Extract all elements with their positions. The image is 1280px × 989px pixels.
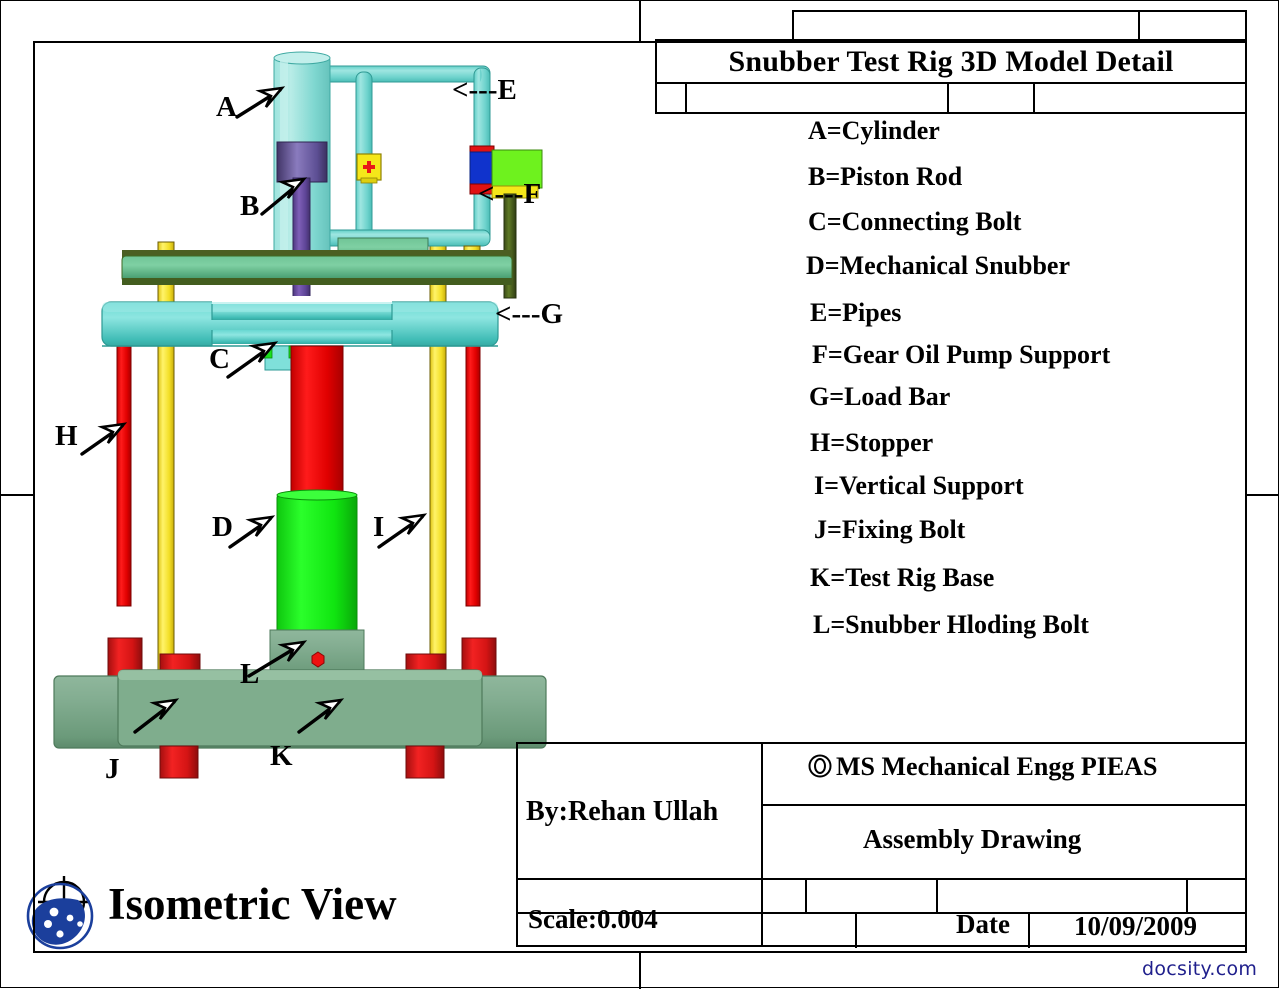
header-cell-5 <box>949 84 1035 112</box>
legend-equals: = <box>827 517 842 543</box>
legend-key: J <box>814 517 827 543</box>
frame-tick-left <box>0 494 33 496</box>
tb-divider-v5 <box>1186 878 1188 914</box>
legend-key: G <box>809 384 829 410</box>
header-cell-2 <box>1140 12 1245 39</box>
load-bar <box>102 296 498 354</box>
callout-k: K <box>270 742 293 771</box>
concentric-circle-icon <box>808 754 832 778</box>
drawing-sheet: A B C D H I J K L <---E <---F <---G Snub… <box>0 0 1280 989</box>
page-title: Snubber Test Rig 3D Model Detail <box>728 45 1173 79</box>
snubber-upper-rod <box>291 346 343 496</box>
header-cell-4 <box>687 84 949 112</box>
legend-value: Mechanical Snubber <box>840 253 1070 279</box>
callout-g: <---G <box>495 300 563 329</box>
tb-divider-h2 <box>518 878 1247 880</box>
piston-head <box>277 142 327 182</box>
title-header: Snubber Test Rig 3D Model Detail <box>655 10 1247 114</box>
organisation-label: MS Mechanical Engg PIEAS <box>808 752 1157 782</box>
mechanical-snubber <box>277 490 357 636</box>
header-cell-1 <box>794 12 1140 39</box>
legend-value: Pipes <box>842 300 901 326</box>
legend-key: I <box>814 473 824 499</box>
header-cell-3 <box>657 84 687 112</box>
legend-equals: = <box>827 118 842 144</box>
legend-key: F <box>812 342 828 368</box>
callout-b: B <box>240 192 259 221</box>
scale-label: Scale:0.004 <box>528 904 658 935</box>
snubber-holding-bolt <box>312 652 324 667</box>
legend-equals: = <box>827 300 842 326</box>
docsity-watermark-logo <box>18 872 110 954</box>
callout-a: A <box>216 93 237 122</box>
tb-divider-v1 <box>761 744 763 878</box>
fixing-bolts-bottom <box>160 746 444 778</box>
stopper-right <box>466 328 480 606</box>
legend-value: Stopper <box>845 430 933 456</box>
frame-tick-top <box>639 0 641 41</box>
legend-equals: = <box>830 430 845 456</box>
legend-value: Vertical Support <box>839 473 1024 499</box>
legend-value: Snubber Hloding Bolt <box>845 612 1089 638</box>
callout-c: C <box>209 345 230 374</box>
legend-value: Load Bar <box>844 384 950 410</box>
title-block: By:Rehan Ullah Scale:0.004 MS Mechanical… <box>516 742 1247 947</box>
date-value: 10/09/2009 <box>1074 911 1197 942</box>
drawing-title-box: Snubber Test Rig 3D Model Detail <box>655 39 1247 83</box>
legend-value: Cylinder <box>842 118 940 144</box>
stopper-left <box>117 328 131 606</box>
legend-key: L <box>813 612 830 638</box>
drawing-type-label: Assembly Drawing <box>863 824 1081 855</box>
view-label: Isometric View <box>108 878 397 930</box>
legend-key: A <box>808 118 827 144</box>
frame-tick-bottom <box>639 953 641 989</box>
tb-divider-h1 <box>761 804 1247 806</box>
legend-key: C <box>808 209 827 235</box>
legend-key: K <box>810 565 830 591</box>
tb-divider-v7 <box>1028 912 1030 948</box>
legend-value: Fixing Bolt <box>842 517 966 543</box>
isometric-model-illustration <box>34 42 634 782</box>
legend-key: H <box>810 430 830 456</box>
docsity-watermark: docsity.com <box>1142 958 1257 980</box>
callout-e: <---E <box>452 76 517 105</box>
legend-value: Test Rig Base <box>845 565 994 591</box>
valve-fitting <box>357 154 381 183</box>
legend-equals: = <box>830 612 845 638</box>
callout-l: L <box>240 660 259 689</box>
legend-value: Gear Oil Pump Support <box>843 342 1111 368</box>
legend-key: E <box>810 300 827 326</box>
upper-green-beam <box>122 250 512 285</box>
legend-equals: = <box>825 253 840 279</box>
organisation-text: MS Mechanical Engg PIEAS <box>836 752 1157 781</box>
legend-equals: = <box>829 384 844 410</box>
callout-d: D <box>212 513 233 542</box>
legend-equals: = <box>828 342 843 368</box>
tb-divider-v4 <box>936 878 938 914</box>
parts-legend: A = Cylinder B = Piston Rod C = Connecti… <box>700 118 1245 638</box>
callout-i: I <box>373 513 384 542</box>
callout-f: <---F <box>478 180 541 209</box>
header-bottom-strip <box>655 82 1247 114</box>
legend-key: B <box>808 164 825 190</box>
tb-divider-v6 <box>855 912 857 948</box>
legend-equals: = <box>830 565 845 591</box>
tb-divider-v3 <box>805 878 807 914</box>
date-label: Date <box>956 909 1010 940</box>
legend-key: D <box>806 253 825 279</box>
legend-equals: = <box>827 209 842 235</box>
legend-equals: = <box>825 164 840 190</box>
author-label: By:Rehan Ullah <box>526 796 718 828</box>
callout-j: J <box>105 755 120 784</box>
header-cell-6 <box>1035 84 1245 112</box>
test-rig-base <box>54 670 546 748</box>
frame-tick-right <box>1247 494 1279 496</box>
legend-value: Connecting Bolt <box>842 209 1022 235</box>
callout-h: H <box>55 422 78 451</box>
legend-equals: = <box>824 473 839 499</box>
legend-value: Piston Rod <box>840 164 962 190</box>
header-top-strip <box>792 10 1247 41</box>
